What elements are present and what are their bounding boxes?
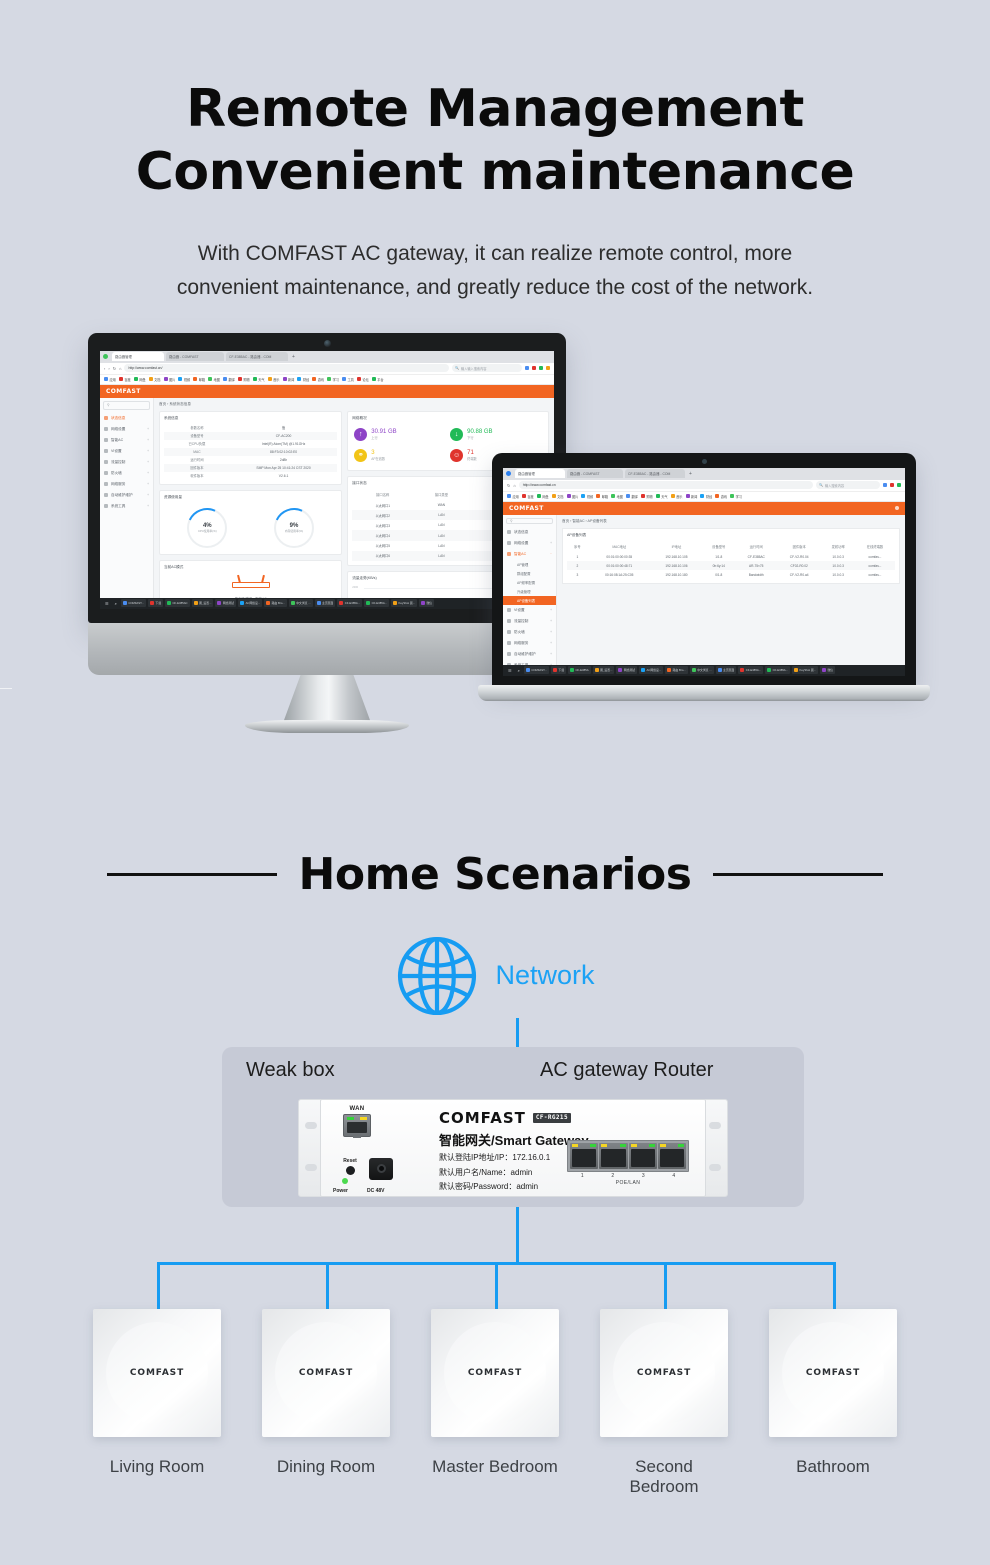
sidebar-item-1[interactable]: 网络设置+ [503,538,556,549]
sidebar-item-icon [507,608,511,612]
bookmark-item[interactable]: 新闻 [686,494,698,499]
bracket-hole [709,1122,721,1129]
ap-face-circle: COMFAST [613,1322,715,1424]
taskbar-item-label: 图_设置... [199,601,211,605]
laptop-app-body: COMFAST ⚲ 状态信息网络设置+智能AC−AP管理群组配置AP频率配置升级… [503,502,905,676]
bookmark-icon [357,377,361,381]
card-title: 资源使用量 [164,495,337,500]
bookmark-item[interactable]: 平台 [372,377,384,382]
bookmark-item[interactable]: 天气 [656,494,668,499]
table-row: 设备型号CF-AC200 [164,432,337,440]
bookmark-icon [372,377,376,381]
sidebar-item-8[interactable]: 系统工具+ [100,501,153,512]
bookmark-item[interactable]: 论坛 [357,377,369,382]
column-header: MAC地址 [588,541,651,552]
power-led [342,1178,348,1184]
bookmark-item[interactable]: 购物 [641,494,653,499]
browser-tab-2[interactable]: CF-E385AC - 路由器 - COM [226,352,288,361]
table-cell: CF-V2-R0.04 [777,552,821,561]
sidebar-item-2[interactable]: 智能AC+ [100,435,153,446]
taskbar-item[interactable]: AC网络设... [639,666,663,674]
stat-text: 30.91 GB上行 [371,429,396,441]
laptop-lid: 路由器管理 路由器 - COMFAST CF-E385AC - 路由器 - CO… [492,453,916,687]
browser-app-icon [506,471,511,476]
ap-room-label: Second Bedroom [600,1457,728,1497]
bracket-hole [305,1122,317,1129]
ac-gateway-label: AC gateway Router [540,1059,713,1082]
chevron-right-icon: + [147,438,149,442]
ap-wall-plate[interactable]: COMFAST [262,1309,390,1437]
browser-tab-label: CF-E385AC - 路由器 - COM [229,354,271,359]
browser-tab-2[interactable]: CF-E385AC - 路由器 - COM [625,469,685,478]
bookmark-label: 游戏 [318,377,324,382]
stat-item: ⚭3AP在线数 [352,445,448,466]
dc-jack-pin [377,1164,386,1173]
taskbar-item-label: COMFAST... [128,601,144,605]
laptop-bookmarks-bar: 应用百度网盘文档图片视频邮箱地图翻译购物天气音乐新闻财经游戏学习 [503,492,905,502]
browser-tab-0[interactable]: 路由器管理 [515,469,565,478]
sidebar-item-3[interactable]: VI设置+ [100,446,153,457]
taskbar-item[interactable]: CF-E385AC [165,599,190,607]
chevron-right-icon: + [550,541,552,545]
bookmark-icon [522,494,526,498]
cell-value: Intel(R) Atom(TM) @1.91GHz [230,442,337,446]
bookmark-icon [686,494,690,498]
ap-wall-plate[interactable]: COMFAST [431,1309,559,1437]
bookmark-item[interactable]: 音乐 [671,494,683,499]
sidebar-item-tail-0[interactable]: VI设置+ [503,605,556,616]
browser-tab-1[interactable]: 路由器 - COMFAST [166,352,224,361]
chevron-right-icon: − [550,552,552,556]
table-cell: 以太网口2 [352,510,413,520]
sidebar-item-1[interactable]: 网络设置+ [100,424,153,435]
access-point-0: COMFASTLiving Room [93,1309,221,1497]
stat-label: AP在线数 [371,456,385,461]
extension-icon[interactable] [897,483,901,487]
sidebar-item-4[interactable]: 流量控制+ [100,457,153,468]
bookmark-label: 购物 [646,494,652,499]
power-label: Power [333,1188,348,1194]
sidebar-item-label: 流量控制 [514,619,528,624]
cell-key: 已CPU负载 [164,441,230,446]
table-row: MAC88:F3:02:10:02:E0 [164,448,337,456]
browser-app-icon [103,354,108,359]
bookmark-label: 财经 [303,377,309,382]
new-tab-button[interactable]: + [687,471,692,477]
taskbar-item[interactable]: CF-E385A... [738,666,763,674]
bookmark-label: 百度 [527,494,533,499]
bookmark-item[interactable]: 财经 [700,494,712,499]
bookmark-item[interactable]: 天气 [253,377,265,382]
sidebar-search-input[interactable]: ⚲ [506,518,553,524]
bookmark-label: 翻译 [632,494,638,499]
bookmark-item[interactable]: 学习 [327,377,339,382]
taskbar-item[interactable]: 微信 [419,599,434,607]
page-title-line1: Remote Management [186,79,804,139]
bookmark-icon [193,377,197,381]
hero-section: Remote Management Convenient maintenance… [0,0,990,305]
table-cell: 0/1.8 [702,570,736,579]
sidebar-subitem-3[interactable]: 升级管理 [503,587,556,596]
bookmark-item[interactable]: 购物 [238,377,250,382]
ap-room-label: Dining Room [262,1457,390,1477]
bookmark-item[interactable]: 财经 [297,377,309,382]
ap-wall-plate[interactable]: COMFAST [93,1309,221,1437]
ap-logo: COMFAST [130,1368,184,1378]
globe-icon [395,934,479,1018]
bookmark-item[interactable]: 游戏 [715,494,727,499]
bookmark-item[interactable]: 网盘 [537,494,549,499]
bookmark-label: 购物 [243,377,249,382]
bookmark-label: 新闻 [288,377,294,382]
chevron-right-icon: + [147,427,149,431]
laptop-screen: 路由器管理 路由器 - COMFAST CF-E385AC - 路由器 - CO… [503,468,905,676]
dashboard-left-pane: 系统信息 参数名称 值 设备型号CF-AC200已CPU负载Intel(R) A… [159,411,342,598]
taskbar-item-icon [240,601,244,605]
taskbar-item[interactable]: 中文浏览 ... [289,599,313,607]
taskbar-item[interactable]: CF-E385A [568,666,591,674]
ap-room-label: Living Room [93,1457,221,1477]
sidebar-item-label: 流量控制 [111,460,125,465]
table-cell: 192.168.10.106 [651,561,702,570]
dc-power-group [369,1158,393,1180]
sidebar-item-icon [507,541,511,545]
taskbar-item-label: 路由 Bro... [673,668,686,672]
bookmark-label: 学习 [736,494,742,499]
bookmark-label: 视频 [184,377,190,382]
bookmark-item[interactable]: 工具 [342,377,354,382]
table-cell: LAN [413,551,469,561]
ap-logo: COMFAST [637,1368,691,1378]
sidebar-subitem-4[interactable]: AP设备列表 [503,596,556,605]
usage-gauge: 9%内存使用率(%) [274,508,314,548]
device-showcase: 路由器管理 路由器 - COMFAST CF-E385AC - 路由器 - CO… [0,333,990,783]
taskbar-item-icon [526,668,530,672]
bookmark-item[interactable]: 邮箱 [596,494,608,499]
bookmark-item[interactable]: 文档 [149,377,161,382]
taskbar-item-icon [667,668,671,672]
bookmark-icon [104,377,108,381]
taskbar-item-label: AC网络设... [246,601,261,605]
sidebar-item-icon [507,652,511,656]
cell-key: 固件版本 [164,465,230,470]
extension-icon[interactable] [532,366,536,370]
sidebar-item-label: 网络服务 [111,482,125,487]
extension-icon[interactable] [883,483,887,487]
bookmark-item[interactable]: 翻译 [626,494,638,499]
extension-icon[interactable] [525,366,529,370]
taskbar-item-label: CF-E385A... [345,601,360,605]
bookmark-label: 网盘 [542,494,548,499]
bookmark-item[interactable]: 百度 [522,494,534,499]
sidebar-item-0[interactable]: 状态信息 [503,527,556,538]
search-icon: 🔍 [819,483,823,487]
card-title: 当前AC模式 [164,565,337,570]
port-led-yellow [601,1144,607,1147]
search-box[interactable]: 🔍 输入搜索内容 [816,481,880,489]
gauge-label: CPU使用率(%) [198,529,217,533]
bookmark-item[interactable]: 地图 [208,377,220,382]
port-led-yellow [660,1144,666,1147]
port-number-label: 4 [659,1173,690,1179]
bookmark-label: 文档 [557,494,563,499]
table-row: 软件版本V2.6.1 [164,472,337,480]
reload-icon[interactable]: ↻ [507,483,510,488]
taskbar-search-icon[interactable]: ⌕ [113,601,119,606]
bookmark-item[interactable]: 邮箱 [193,377,205,382]
download-arrow-icon: ↓ [450,428,463,441]
bookmark-item[interactable]: 文档 [552,494,564,499]
taskbar-item-label: CF-E385AC [173,601,188,605]
chevron-right-icon: + [550,652,552,656]
sidebar-item-5[interactable]: 防火墙+ [100,468,153,479]
sidebar-item-icon [104,493,108,497]
taskbar-item-label: KeyShot 展... [800,668,816,672]
poe-lan-ports [567,1140,689,1172]
taskbar-item[interactable]: KeyShot 展... [792,666,818,674]
sidebar-item-label: 网络服务 [514,641,528,646]
chevron-right-icon: + [147,449,149,453]
bookmark-label: 翻译 [229,377,235,382]
breadcrumb: 首页 › 系统状态信息 [159,402,549,407]
bookmark-icon [537,494,541,498]
bookmark-label: 学习 [333,377,339,382]
sidebar-item-0[interactable]: 状态信息 [100,413,153,424]
column-header: 参数名称 [164,425,230,430]
address-bar[interactable]: http://www.comfast.cn [519,481,813,489]
bookmark-item[interactable]: 视频 [178,377,190,382]
bookmark-item[interactable]: 新闻 [283,377,295,382]
port-led-green [347,1117,354,1121]
gauge-label: 内存使用率(%) [285,529,303,533]
taskbar-item[interactable]: 下载 [551,666,566,674]
divider-right [713,873,883,876]
sidebar-item-7[interactable]: 自动维护维护+ [100,490,153,501]
taskbar-item[interactable]: 网络测试 [215,599,236,607]
desktop-browser-tabstrip: 路由器管理 路由器 - COMFAST CF-E385AC - 路由器 - CO… [100,351,554,363]
taskbar-item-label: 中文浏览 ... [296,601,310,605]
wan-label: WAN [337,1106,377,1112]
dc-voltage-label: DC 48V [367,1188,385,1194]
cell-value: 88:F3:02:10:02:E0 [230,450,337,454]
table-row: 运行时间2d8h [164,456,337,464]
browser-tab-0[interactable]: 路由器管理 [112,352,164,361]
table-cell: LAN [413,541,469,551]
bookmark-icon [238,377,242,381]
sidebar-item-tail-1[interactable]: 流量控制+ [503,616,556,627]
home-scenario-diagram: Network Weak box AC gateway Router WAN [0,934,990,1454]
column-header: 序号 [567,541,588,552]
table-row: 300:16:08:1A:25:C05192.168.10.1800/1.8Ba… [567,570,895,579]
taskbar-item[interactable]: 下载 [148,599,163,607]
taskbar-item[interactable]: 图_设置... [192,599,214,607]
bookmark-item[interactable]: 图片 [567,494,579,499]
table-cell: 以太网口6 [352,551,413,561]
bookmark-item[interactable]: 翻译 [223,377,235,382]
taskbar-item[interactable]: 微信 [820,666,835,674]
taskbar-item-label: 路由 Bro... [272,601,285,605]
taskbar-item-icon [150,601,154,605]
chevron-right-icon: + [147,471,149,475]
stat-label: 上行 [371,435,396,440]
table-header-row: 参数名称 值 [164,424,337,432]
table-cell: 0h:6y:14 [702,561,736,570]
sidebar-item-tail-2[interactable]: 防火墙+ [503,627,556,638]
sidebar-item-6[interactable]: 网络服务+ [100,479,153,490]
user-avatar[interactable] [895,506,899,510]
ap-wall-plate[interactable]: COMFAST [769,1309,897,1437]
bookmark-icon [178,377,182,381]
ap-logo: COMFAST [468,1368,522,1378]
ap-device-table: 序号MAC地址IP地址设备型号运行时间固件版本发射功率在线终端数 100:01:… [567,541,895,580]
wire-router-down [516,1207,519,1264]
taskbar-item[interactable]: 图_设置... [593,666,615,674]
table-cell: Bandwidth [736,570,777,579]
sidebar-subitem-2[interactable]: AP频率配置 [503,578,556,587]
taskbar-item[interactable]: 路由 Bro... [264,599,287,607]
sidebar-item-2[interactable]: 智能AC− [503,549,556,560]
bookmark-item[interactable]: 地图 [611,494,623,499]
bracket-hole [709,1164,721,1171]
sidebar-item-tail-3[interactable]: 网络服务+ [503,638,556,649]
address-bar[interactable]: http://www.comfast.cn/ [124,364,449,372]
table-cell: 以太网口5 [352,541,413,551]
bookmark-label: 天气 [661,494,667,499]
taskbar-item[interactable]: CF-E385A... [765,666,790,674]
taskbar-search-icon[interactable]: ⌕ [516,668,522,673]
taskbar-item[interactable]: 主页页面 [716,666,737,674]
bookmark-label: 音乐 [676,494,682,499]
cell-value: SMP Mon Apr 25 10:41:24 CST 2020 [230,466,337,470]
bookmark-item[interactable]: 音乐 [268,377,280,382]
sidebar-subitem-0[interactable]: AP管理 [503,560,556,569]
bookmark-icon [342,377,346,381]
bookmark-item[interactable]: 应用 [104,377,116,382]
table-row: 固件版本SMP Mon Apr 25 10:41:24 CST 2020 [164,464,337,472]
port-led-green [649,1144,655,1147]
bookmark-label: 应用 [110,377,116,382]
page-title: Remote Management Convenient maintenance [0,78,990,205]
new-tab-button[interactable]: + [290,354,295,360]
taskbar-item-icon [217,601,221,605]
reload-icon[interactable]: ↻ [113,366,116,371]
ap-face-circle: COMFAST [106,1322,208,1424]
page-subtitle-line1: With COMFAST AC gateway, it can realize … [198,242,792,265]
bookmark-item[interactable]: 网盘 [134,377,146,382]
taskbar-item[interactable]: COMFAST... [121,599,146,607]
table-cell: CF-E385AC [736,552,777,561]
taskbar-item[interactable]: 网络测试 [616,666,637,674]
bookmark-label: 百度 [124,377,130,382]
section-header: Home Scenarios [0,849,990,900]
extension-icon[interactable] [890,483,894,487]
home-icon[interactable]: ⌂ [119,366,121,371]
bookmark-icon [149,377,153,381]
bookmark-item[interactable]: 百度 [119,377,131,382]
taskbar-item-icon [692,668,696,672]
search-box[interactable]: 🔍 输入输入搜索内容 [452,364,522,372]
bookmark-item[interactable]: 视频 [581,494,593,499]
stat-value: 71 [467,450,477,457]
bookmark-item[interactable]: 应用 [507,494,519,499]
port-slot [631,1149,655,1167]
taskbar-item[interactable]: 中文浏览 ... [690,666,714,674]
access-point-4: COMFASTBathroom [769,1309,897,1497]
taskbar-item-icon [339,601,343,605]
forward-icon[interactable]: › [108,366,109,371]
taskbar-item[interactable]: AC网络设... [238,599,262,607]
ap-wall-plate[interactable]: COMFAST [600,1309,728,1437]
bookmark-label: 新闻 [691,494,697,499]
start-menu-icon[interactable]: ☰ [103,601,111,606]
start-menu-icon[interactable]: ☰ [506,668,514,673]
bookmark-icon [268,377,272,381]
laptop-base [478,685,930,701]
extension-icon[interactable] [546,366,550,370]
taskbar-item[interactable]: COMFAST... [524,666,549,674]
table-cell: comfas... [855,561,895,570]
taskbar-item[interactable]: 主页页面 [315,599,336,607]
extension-icon[interactable] [539,366,543,370]
app-logo: COMFAST [106,388,141,395]
table-cell: 以太网口1 [352,500,413,510]
column-header: 值 [230,425,337,430]
search-placeholder: 输入搜索内容 [825,483,844,488]
taskbar-item[interactable]: KeyShot 展... [391,599,417,607]
bookmark-item[interactable]: 图片 [164,377,176,382]
stat-text: 90.88 GB下行 [467,429,492,441]
back-icon[interactable]: ‹ [104,366,105,371]
sidebar-item-tail-4[interactable]: 自动维护维护+ [503,649,556,660]
bookmark-label: 财经 [706,494,712,499]
sidebar-item-label: VI设置 [514,608,525,613]
bookmark-icon [552,494,556,498]
bookmark-item[interactable]: 游戏 [312,377,324,382]
sidebar-item-icon [507,619,511,623]
ap-face-circle: COMFAST [275,1322,377,1424]
router-faceplate: WAN Reset Power DC 48V [320,1099,706,1197]
taskbar-item[interactable]: CF-E385A... [337,599,362,607]
sidebar-item-icon [104,416,108,420]
table-cell: LAN [413,520,469,530]
bookmark-label: 地图 [617,494,623,499]
usage-gauge: 4%CPU使用率(%) [187,508,227,548]
network-node: Network [0,934,990,1018]
reset-button[interactable] [346,1166,355,1175]
taskbar-item[interactable]: 路由 Bro... [665,666,688,674]
sidebar-item-icon [507,530,511,534]
bookmark-item[interactable]: 学习 [730,494,742,499]
cell-key: 软件版本 [164,473,230,478]
sidebar-subitem-1[interactable]: 群组配置 [503,569,556,578]
taskbar-item[interactable]: CF-E385A... [364,599,389,607]
bookmark-label: 视频 [587,494,593,499]
cell-value: 2d8h [230,458,337,462]
taskbar-item-icon [194,601,198,605]
bookmark-label: 应用 [513,494,519,499]
wire-drop-living-room [157,1262,160,1312]
sidebar-search-input[interactable]: ⚲ [103,401,150,410]
home-icon[interactable]: ⌂ [513,483,515,488]
bookmark-label: 图片 [169,377,175,382]
breadcrumb: 首页 › 智能AC › AP设备列表 [562,519,900,524]
router-illustration-icon [228,575,274,593]
sidebar-item-icon [507,641,511,645]
table-row: 100:01:00:00:00:35192.168.10.1051/1.8CF-… [567,552,895,561]
browser-tab-1[interactable]: 路由器 - COMFAST [567,469,623,478]
table-cell: AR-75×75 [736,561,777,570]
ap-face-circle: COMFAST [444,1322,546,1424]
